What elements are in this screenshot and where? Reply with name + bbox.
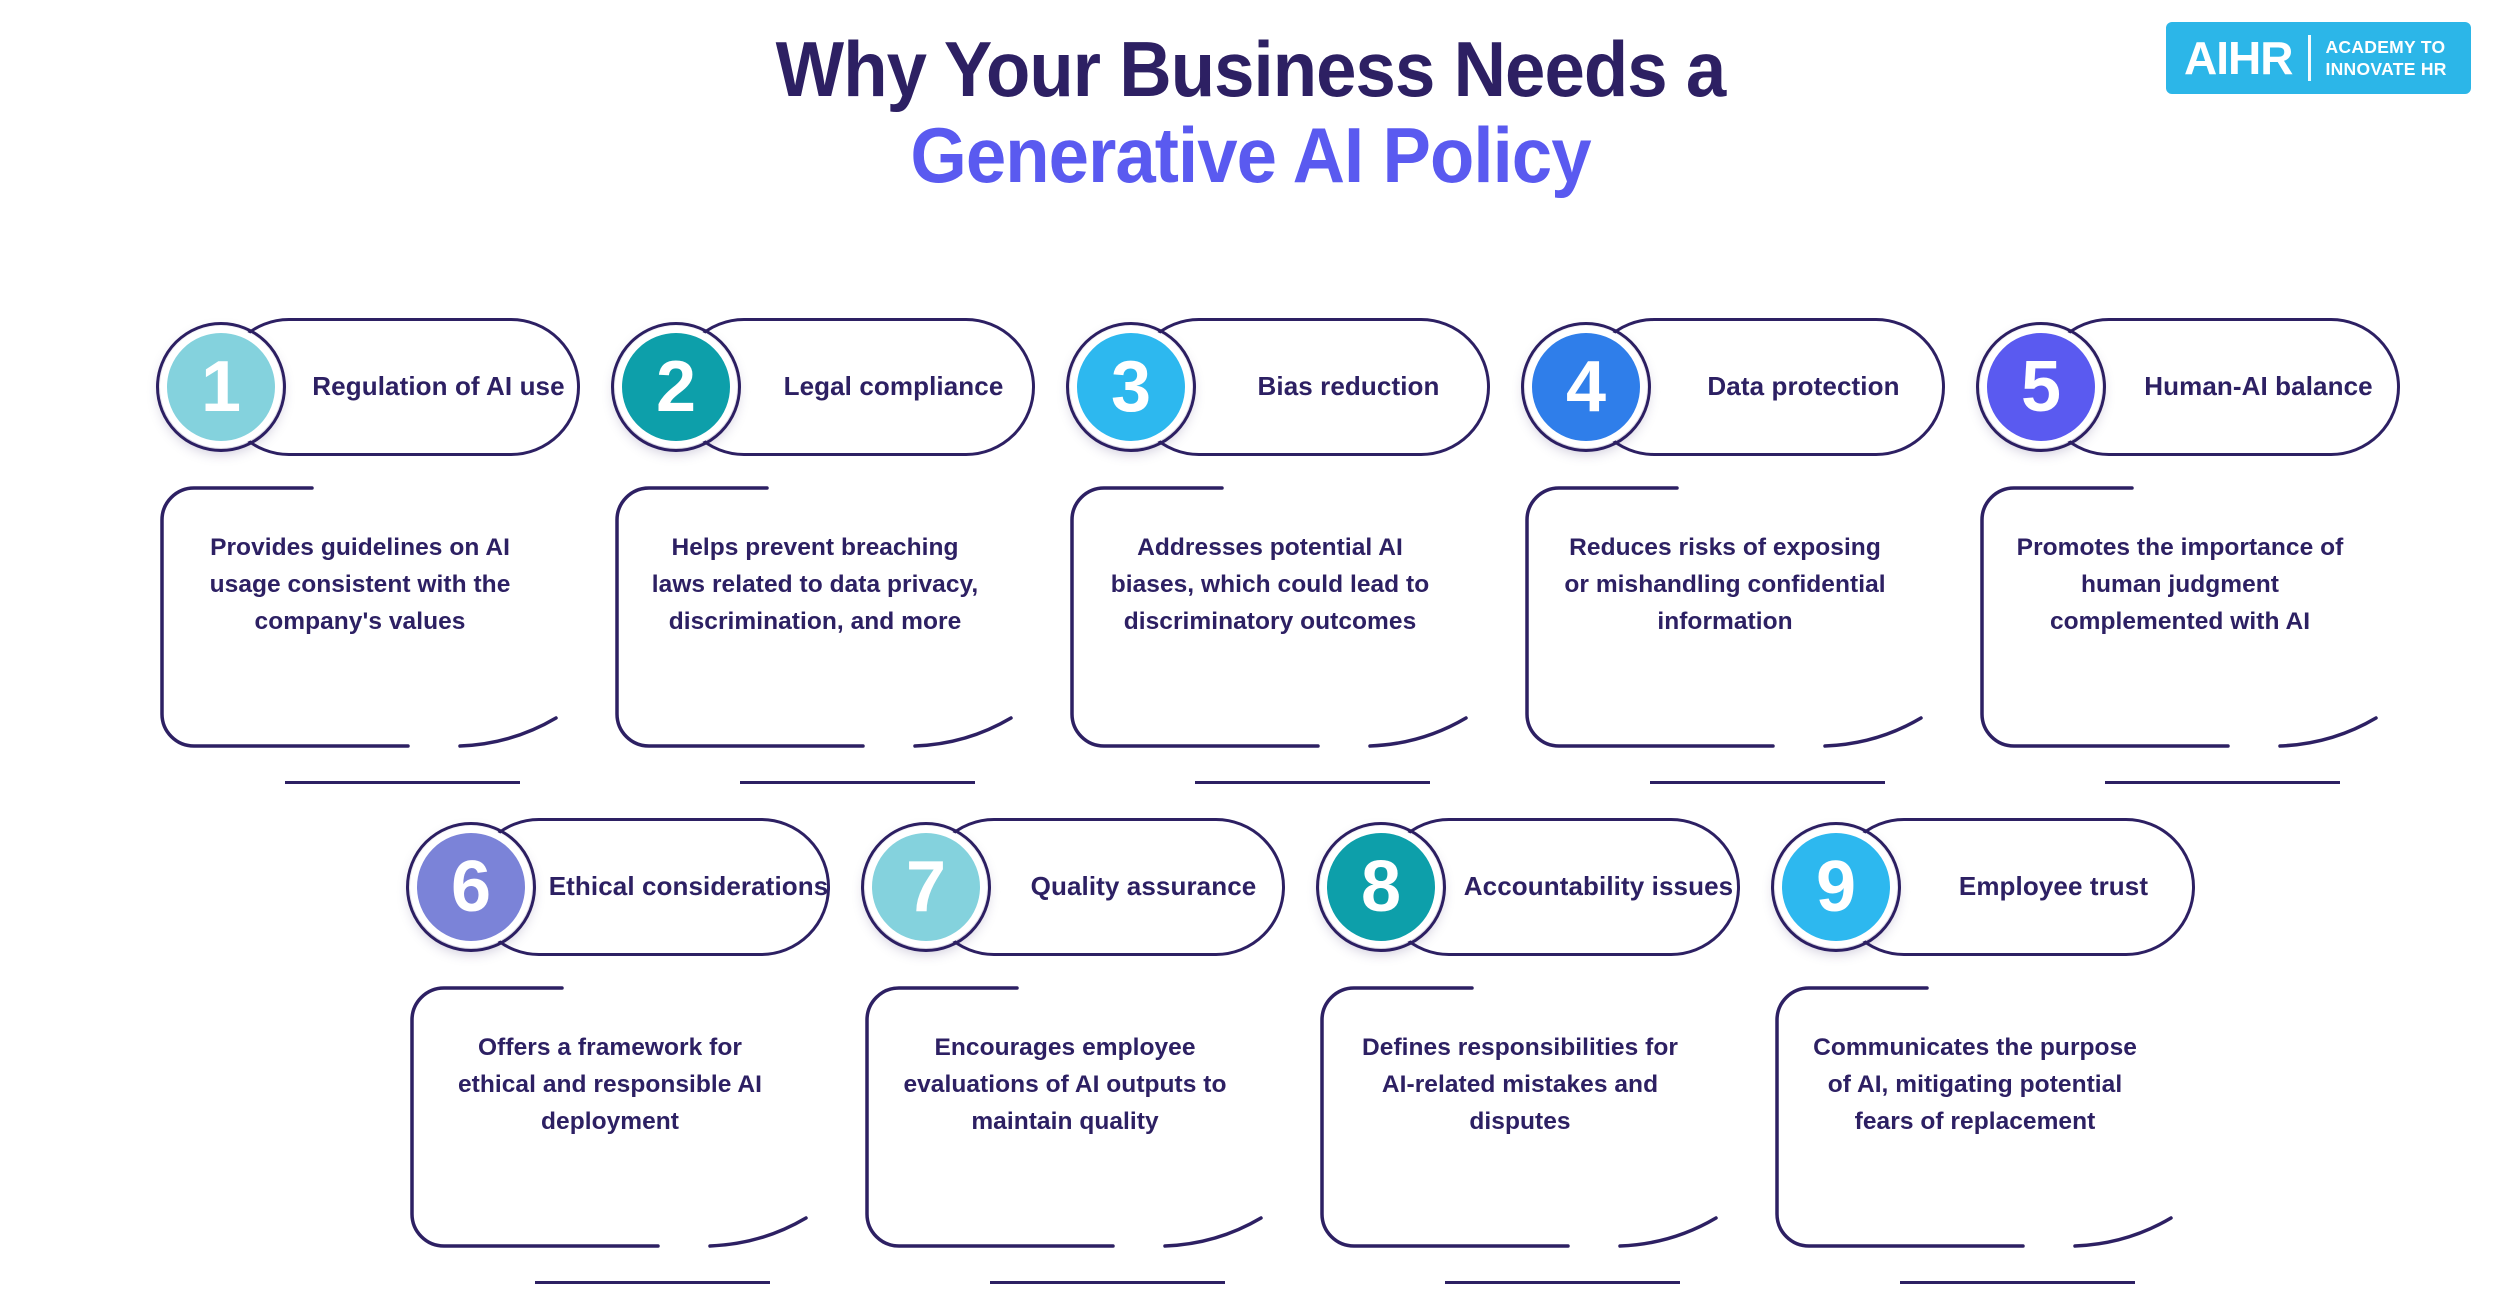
card-number: 7 — [906, 851, 946, 923]
card-title: Legal compliance — [735, 318, 1052, 456]
card-number-badge: 7 — [865, 826, 987, 948]
card-number-badge: 4 — [1525, 326, 1647, 448]
card-1: 1Regulation of AI useProvides guidelines… — [160, 318, 615, 798]
card-body-text: Encourages employee evaluations of AI ou… — [865, 986, 1265, 1248]
card-title: Quality assurance — [985, 818, 1302, 956]
card-number: 1 — [201, 351, 241, 423]
card-number: 9 — [1816, 851, 1856, 923]
card-body-box: Promotes the importance of human judgmen… — [1980, 486, 2380, 748]
card-row-1: 1Regulation of AI useProvides guidelines… — [160, 318, 2435, 798]
card-body-box: Provides guidelines on AI usage consiste… — [160, 486, 560, 748]
card-body-box: Defines responsibilities for AI-related … — [1320, 986, 1720, 1248]
card-title: Ethical considerations — [530, 818, 847, 956]
card-8: 8Accountability issuesDefines responsibi… — [1320, 818, 1775, 1298]
card-body-text: Helps prevent breaching laws related to … — [615, 486, 1015, 748]
page-title: Why Your Business Needs a Generative AI … — [0, 30, 2501, 200]
card-number-badge: 5 — [1980, 326, 2102, 448]
card-body-text: Offers a framework for ethical and respo… — [410, 986, 810, 1248]
card-title: Bias reduction — [1190, 318, 1507, 456]
card-number: 8 — [1361, 851, 1401, 923]
card-body-box: Addresses potential AI biases, which cou… — [1070, 486, 1470, 748]
card-title: Data protection — [1645, 318, 1962, 456]
card-body-box: Offers a framework for ethical and respo… — [410, 986, 810, 1248]
card-body-text: Addresses potential AI biases, which cou… — [1070, 486, 1470, 748]
card-body-box: Reduces risks of exposing or mishandling… — [1525, 486, 1925, 748]
card-title: Human-AI balance — [2100, 318, 2417, 456]
card-number: 6 — [451, 851, 491, 923]
card-body-box: Helps prevent breaching laws related to … — [615, 486, 1015, 748]
card-7: 7Quality assuranceEncourages employee ev… — [865, 818, 1320, 1298]
card-4: 4Data protectionReduces risks of exposin… — [1525, 318, 1980, 798]
card-number: 3 — [1111, 351, 1151, 423]
card-number-badge: 1 — [160, 326, 282, 448]
card-title-underline — [1445, 1281, 1680, 1285]
card-number-badge: 3 — [1070, 326, 1192, 448]
card-number-badge: 8 — [1320, 826, 1442, 948]
card-6: 6Ethical considerationsOffers a framewor… — [410, 818, 865, 1298]
card-number: 4 — [1566, 351, 1606, 423]
card-row-2: 6Ethical considerationsOffers a framewor… — [410, 818, 2230, 1298]
card-body-text: Communicates the purpose of AI, mitigati… — [1775, 986, 2175, 1248]
card-body-text: Defines responsibilities for AI-related … — [1320, 986, 1720, 1248]
card-title: Regulation of AI use — [280, 318, 597, 456]
card-title-underline — [990, 1281, 1225, 1285]
card-title-underline — [535, 1281, 770, 1285]
card-title: Employee trust — [1895, 818, 2212, 956]
card-number: 5 — [2021, 351, 2061, 423]
title-line-2: Generative AI Policy — [88, 110, 2414, 200]
card-body-box: Communicates the purpose of AI, mitigati… — [1775, 986, 2175, 1248]
title-line-1: Why Your Business Needs a — [88, 30, 2414, 110]
card-number-badge: 2 — [615, 326, 737, 448]
card-title-underline — [2105, 781, 2340, 785]
card-9: 9Employee trustCommunicates the purpose … — [1775, 818, 2230, 1298]
card-number: 2 — [656, 351, 696, 423]
card-2: 2Legal complianceHelps prevent breaching… — [615, 318, 1070, 798]
card-body-text: Promotes the importance of human judgmen… — [1980, 486, 2380, 748]
card-number-badge: 9 — [1775, 826, 1897, 948]
card-number-badge: 6 — [410, 826, 532, 948]
card-body-text: Reduces risks of exposing or mishandling… — [1525, 486, 1925, 748]
card-title-underline — [740, 781, 975, 785]
card-body-text: Provides guidelines on AI usage consiste… — [160, 486, 560, 748]
card-title: Accountability issues — [1440, 818, 1757, 956]
card-title-underline — [1195, 781, 1430, 785]
card-title-underline — [1650, 781, 1885, 785]
card-body-box: Encourages employee evaluations of AI ou… — [865, 986, 1265, 1248]
card-3: 3Bias reductionAddresses potential AI bi… — [1070, 318, 1525, 798]
card-title-underline — [1900, 1281, 2135, 1285]
card-title-underline — [285, 781, 520, 785]
card-5: 5Human-AI balancePromotes the importance… — [1980, 318, 2435, 798]
